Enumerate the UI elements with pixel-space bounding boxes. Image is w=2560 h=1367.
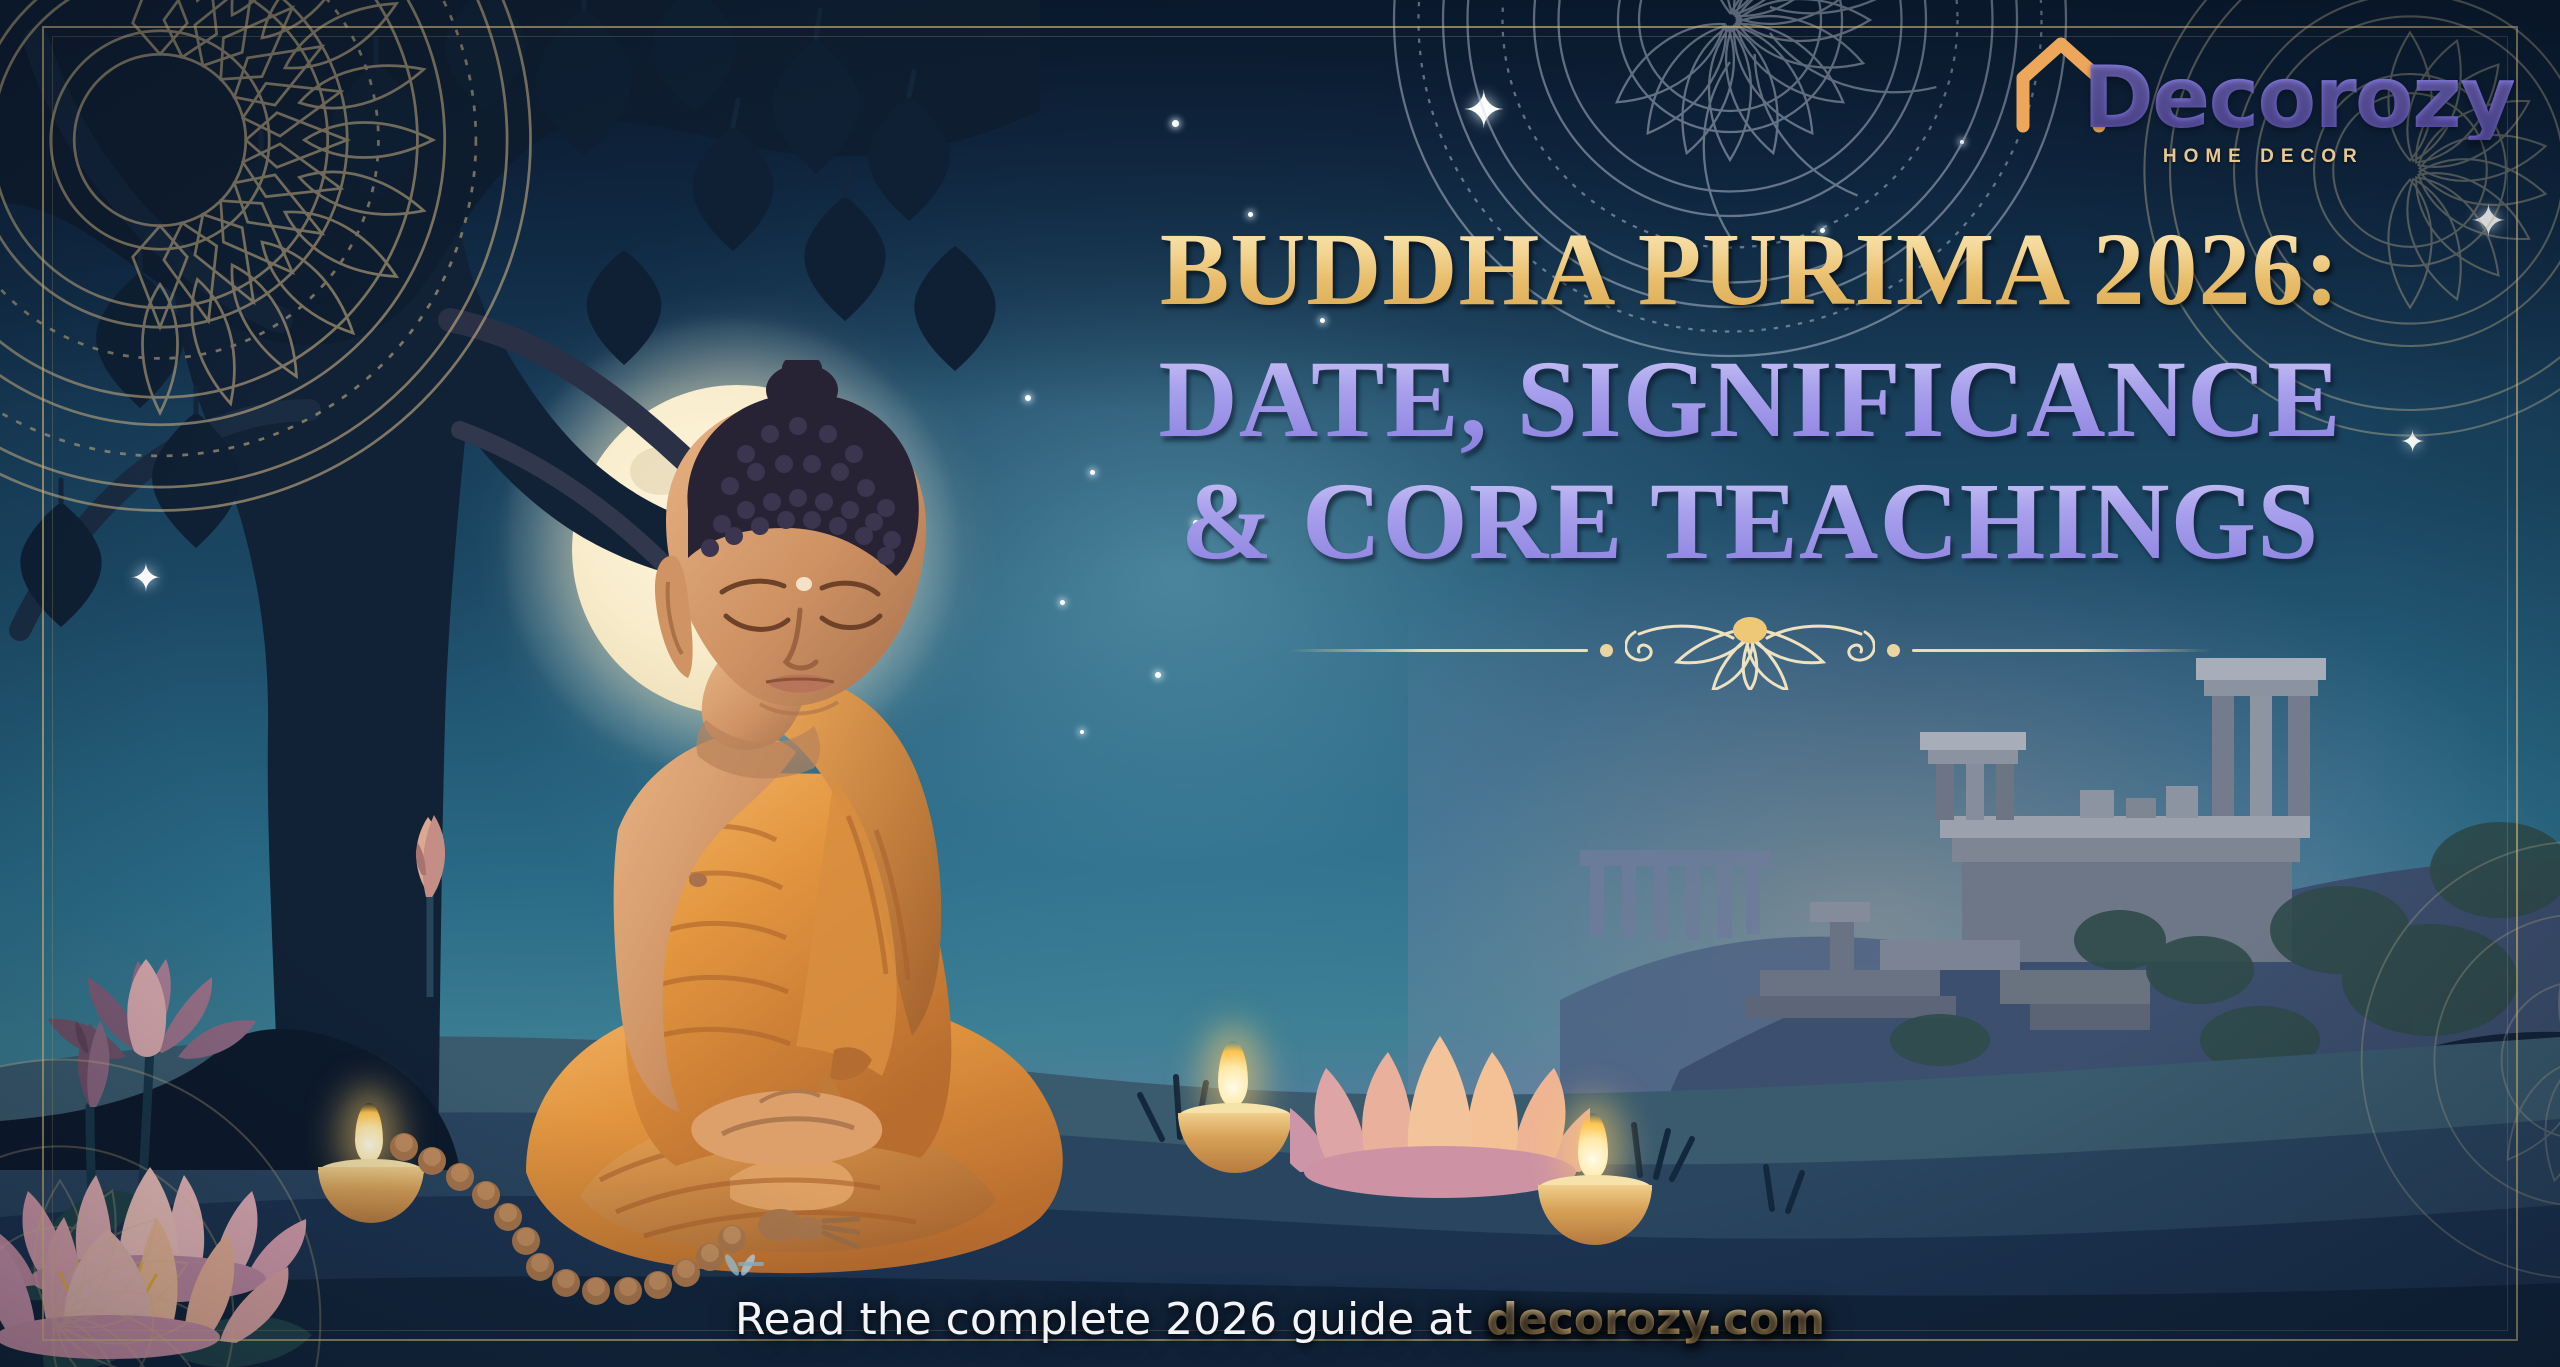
lotus-bud-right-of-trunk	[370, 797, 490, 997]
logo-row: Decorozy	[2013, 30, 2514, 140]
divider-line-left	[1288, 649, 1588, 652]
title-block: BUDDHA PURIMA 2026: DATE, SIGNIFICANCE &…	[1010, 218, 2490, 690]
diya-lamp-center	[1160, 1037, 1310, 1187]
lotus-flourish-icon	[1625, 610, 1875, 690]
banner-root: ✦ ✦ ✦ ✦	[0, 0, 2560, 1367]
divider-dot-right	[1887, 644, 1900, 657]
cta-text[interactable]: Read the complete 2026 guide at decorozy…	[0, 1294, 2560, 1345]
divider-line-right	[1912, 649, 2212, 652]
title-line-2: DATE, SIGNIFICANCE	[1010, 344, 2490, 454]
cta-brand-link[interactable]: decorozy.com	[1486, 1294, 1825, 1345]
title-line-3: & CORE TEACHINGS	[1010, 466, 2490, 576]
lotus-ornament-divider	[1010, 610, 2490, 690]
title-line-1: BUDDHA PURIMA 2026:	[1010, 218, 2490, 322]
logo-tagline: HOME DECOR	[2163, 146, 2364, 168]
mandala-ornament-top-left	[0, 0, 550, 530]
logo-wordmark: Decorozy	[2083, 58, 2514, 140]
mandala-ornament-right	[2300, 780, 2560, 1340]
dragonfly-icon	[710, 1245, 780, 1285]
decorozy-logo[interactable]: Decorozy HOME DECOR	[2013, 30, 2514, 168]
diya-lamp-right	[1520, 1109, 1670, 1259]
divider-dot-left	[1600, 644, 1613, 657]
cta-prefix: Read the complete 2026 guide at	[735, 1294, 1486, 1345]
